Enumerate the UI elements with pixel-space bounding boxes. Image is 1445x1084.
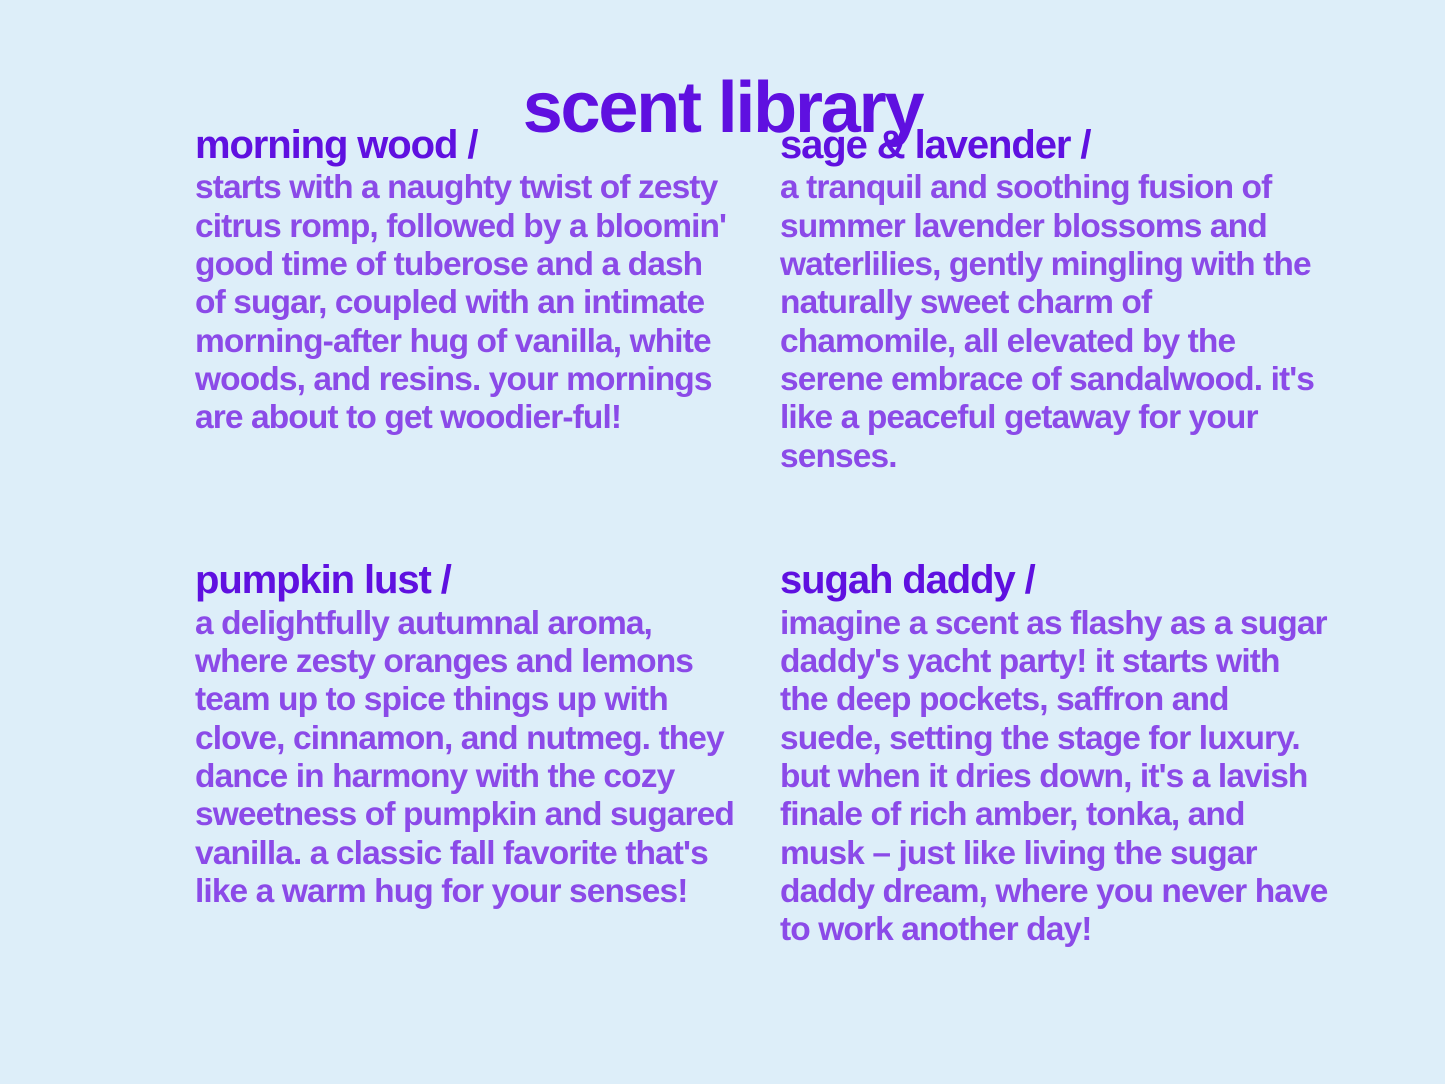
scent-entry-description: imagine a scent as flashy as a sugar dad… (780, 605, 1332, 950)
scent-entry-description: starts with a naughty twist of zesty cit… (195, 169, 735, 437)
scent-entry-title: morning wood / (195, 124, 780, 166)
scent-entry-morning-wood: morning wood / starts with a naughty twi… (195, 124, 780, 476)
scent-library-page: scent library morning wood / starts with… (0, 0, 1445, 1084)
scent-entries-grid: morning wood / starts with a naughty twi… (195, 124, 1355, 950)
scent-entry-title: sugah daddy / (780, 559, 1355, 601)
scent-entry-pumpkin-lust: pumpkin lust / a delightfully autumnal a… (195, 559, 780, 949)
scent-entry-sugah-daddy: sugah daddy / imagine a scent as flashy … (780, 559, 1355, 949)
scent-entry-title: pumpkin lust / (195, 559, 780, 601)
scent-entry-description: a delightfully autumnal aroma, where zes… (195, 605, 735, 912)
scent-entry-title: sage & lavender / (780, 124, 1355, 166)
scent-entry-sage-and-lavender: sage & lavender / a tranquil and soothin… (780, 124, 1355, 476)
scent-entry-description: a tranquil and soothing fusion of summer… (780, 169, 1332, 476)
